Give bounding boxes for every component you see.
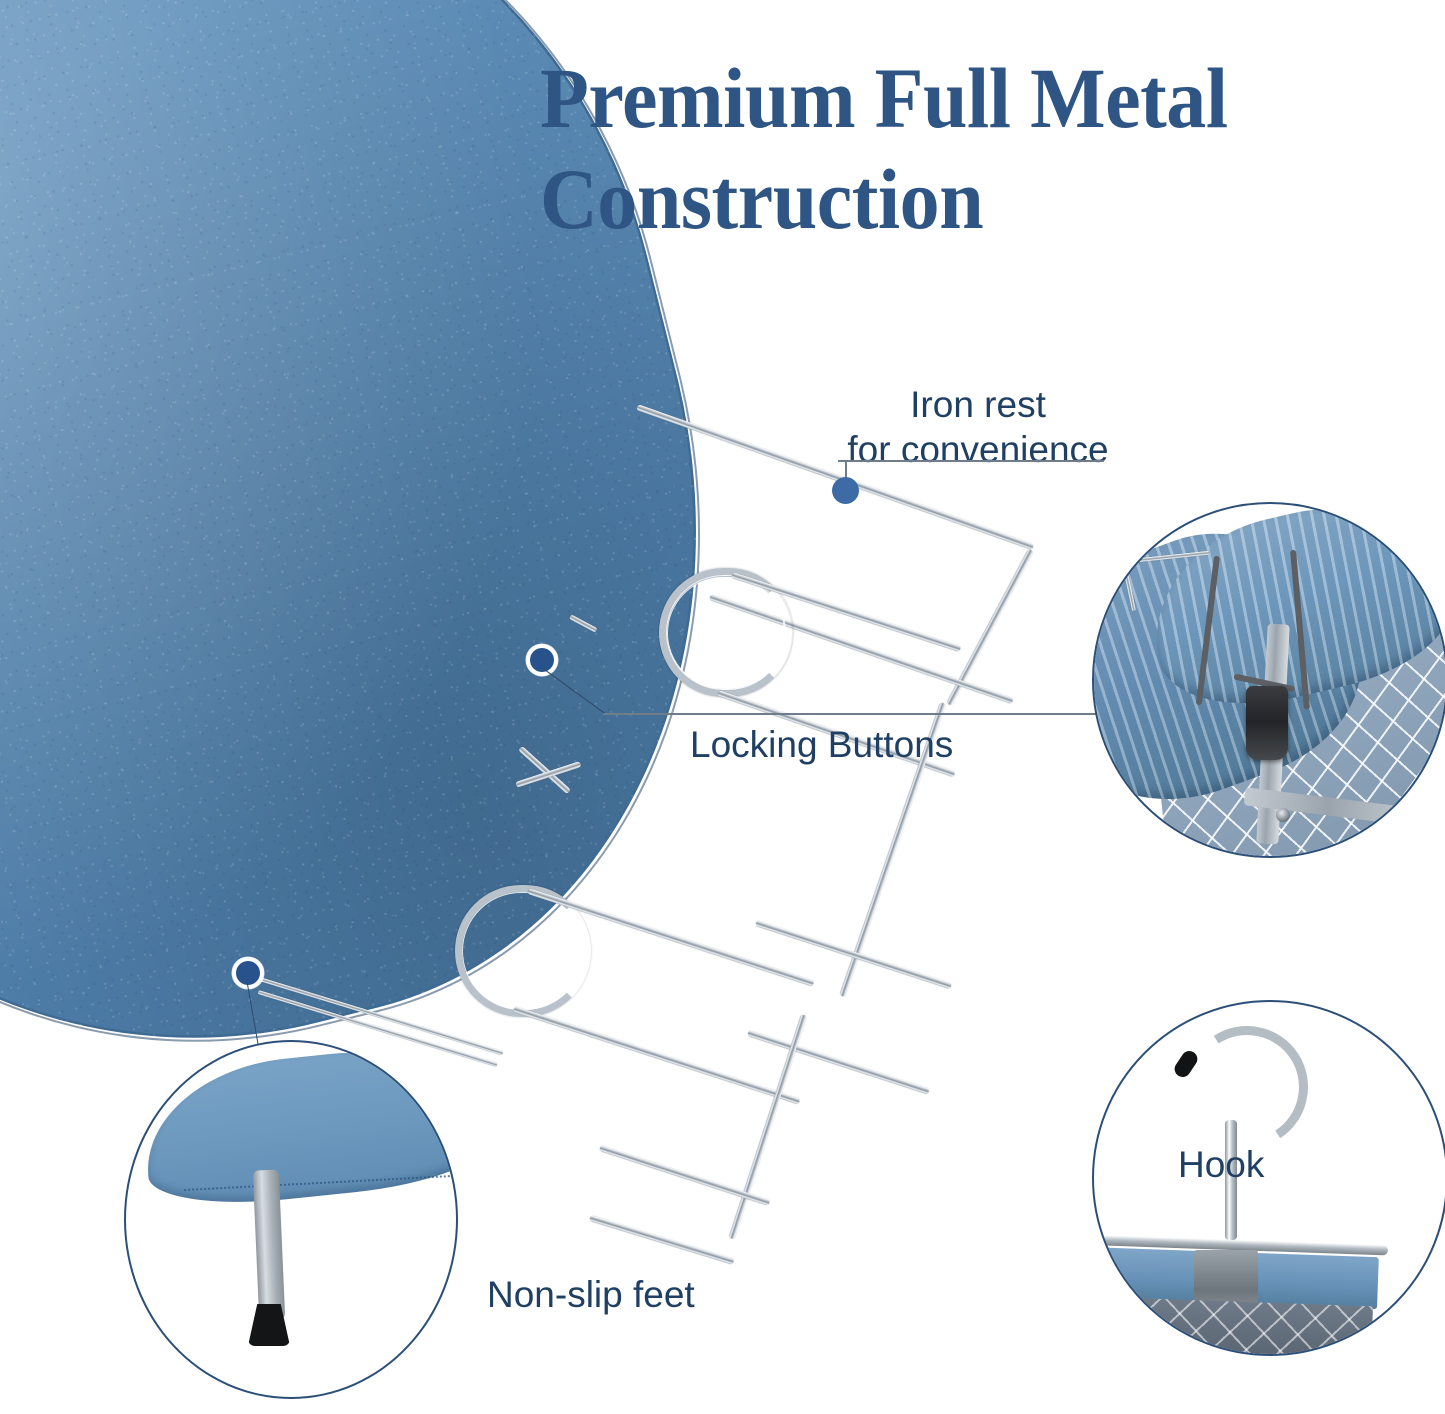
leg-b-bottom-rail [513, 1006, 800, 1104]
inset-non-slip-foot-detail [124, 1040, 458, 1399]
leg-b-foot-rail [589, 1215, 734, 1265]
iron-rest-underline [838, 460, 1104, 462]
callout-label-non-slip-feet: Non-slip feet [487, 1272, 695, 1317]
title-line-1: Premium Full Metal [540, 50, 1228, 146]
infographic-canvas: Premium Full Metal Construction Iron res… [0, 0, 1445, 1414]
board-end-mesh [1121, 1298, 1373, 1356]
callout-label-locking-buttons: Locking Buttons [690, 722, 953, 767]
leg-a-lower-rail [755, 920, 952, 989]
leg-b-lower-rail [599, 1145, 770, 1206]
inset-locking-clamp-detail [1092, 502, 1445, 858]
inset-board-edge [138, 1040, 458, 1213]
non-slip-feet-marker-dot [236, 961, 260, 985]
frame-screw [1276, 808, 1290, 822]
locking-buttons-leader-horizontal [603, 713, 1123, 715]
title-line-2: Construction [540, 149, 1382, 250]
iron-rest-line-1: Iron rest [838, 382, 1118, 427]
iron-rest-line-2: for convenience [838, 427, 1118, 472]
leg-b-side-rail [729, 1014, 807, 1239]
callout-label-iron-rest: Iron rest for convenience [838, 382, 1118, 472]
leg-a-foot-rail [747, 1030, 930, 1094]
locking-clamp [1246, 686, 1288, 760]
page-title: Premium Full Metal Construction [540, 48, 1382, 251]
hook-curve [1175, 1015, 1320, 1160]
iron-rest-marker-dot [832, 477, 859, 504]
inset-hook-detail: Hook [1092, 1000, 1445, 1356]
callout-label-hook: Hook [1178, 1142, 1264, 1187]
